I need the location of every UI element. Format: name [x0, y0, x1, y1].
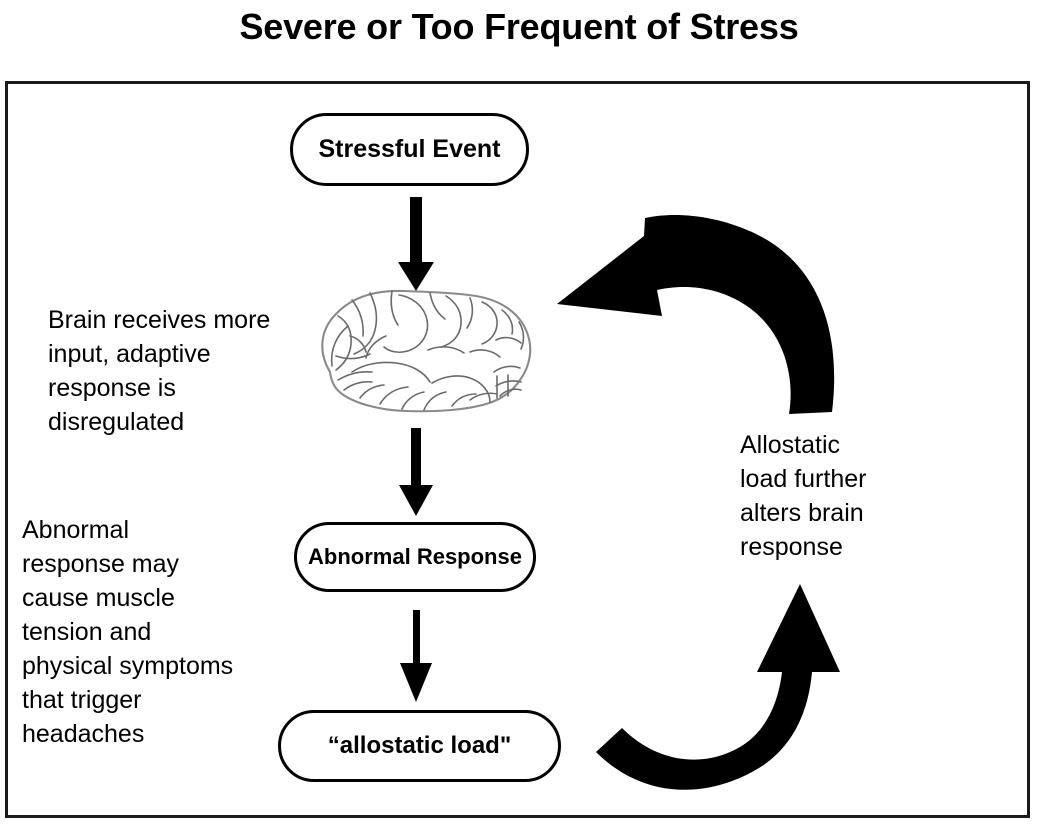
- diagram-page: Severe or Too Frequent of Stress: [0, 0, 1038, 832]
- node-abnormal-response-label: Abnormal Response: [308, 544, 522, 570]
- node-allostatic-load[interactable]: “allostatic load": [278, 710, 561, 782]
- page-title: Severe or Too Frequent of Stress: [0, 4, 1038, 50]
- annotation-abnormal-note: Abnormal response may cause muscle tensi…: [22, 513, 272, 751]
- node-abnormal-response[interactable]: Abnormal Response: [294, 522, 536, 592]
- node-allostatic-load-label: “allostatic load": [328, 732, 511, 760]
- annotation-allostatic-note: Allostatic load further alters brain res…: [740, 428, 960, 564]
- node-stressful-event-label: Stressful Event: [318, 135, 500, 164]
- annotation-brain-note: Brain receives more input, adaptive resp…: [48, 303, 318, 439]
- node-stressful-event[interactable]: Stressful Event: [290, 113, 529, 186]
